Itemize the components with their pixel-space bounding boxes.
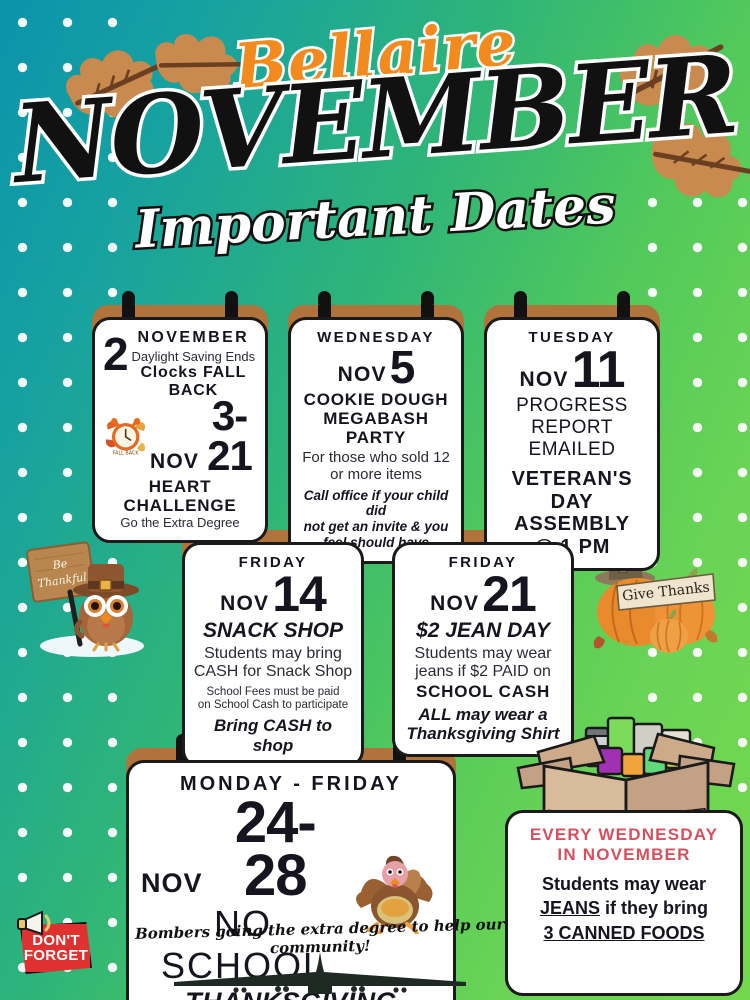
event-card-cookie-dough-megabash[interactable]: WEDNESDAY NOV 5 COOKIE DOUGH MEGABASH PA… xyxy=(288,305,464,564)
event-line: ASSEMBLY xyxy=(495,513,649,535)
event-line: MEGABASH PARTY xyxy=(299,409,453,447)
event-line: Students may wear xyxy=(403,645,563,664)
month-title: NOVEMBER xyxy=(10,32,741,208)
day-of-week: NOVEMBER xyxy=(130,329,257,347)
day-number: 5 xyxy=(390,346,415,390)
bomber-plane-icon xyxy=(170,952,470,998)
jeans-emphasis: JEANS xyxy=(540,898,600,918)
calendar-body: WEDNESDAY NOV 5 COOKIE DOUGH MEGABASH PA… xyxy=(288,317,464,564)
event-line: CASH for Snack Shop xyxy=(193,663,353,682)
poster-headline: Bellaire NOVEMBER Important Dates xyxy=(0,18,750,248)
dont-forget-line-2: FORGET xyxy=(24,948,88,963)
event-line: SNACK SHOP xyxy=(193,619,353,643)
event-card-veterans-day[interactable]: TUESDAY NOV 11 PROGRESS REPORT EMAILED V… xyxy=(484,305,660,571)
nov-label: NOV xyxy=(141,871,203,897)
food-drive-headline-1: EVERY WEDNESDAY xyxy=(516,825,732,845)
event-line: Daylight Saving Ends xyxy=(130,349,257,364)
event-card-snack-shop[interactable]: FRIDAY NOV 14 SNACK SHOP Students may br… xyxy=(182,530,364,768)
event-line: VETERAN'S DAY xyxy=(495,468,649,513)
event-line: SCHOOL CASH xyxy=(403,682,563,701)
alarm-clock-fall-back-icon: FALL BACK xyxy=(103,410,150,462)
food-drive-body-3: 3 CANNED FOODS xyxy=(516,922,732,945)
calendar-body: TUESDAY NOV 11 PROGRESS REPORT EMAILED V… xyxy=(484,317,660,571)
day-number: 21 xyxy=(482,571,536,619)
day-number: 2 xyxy=(103,327,128,381)
calendar-body: 2 NOVEMBER Daylight Saving Ends Clocks F… xyxy=(92,317,268,543)
day-number: 3-21 xyxy=(202,396,257,476)
event-note: Go the Extra Degree xyxy=(103,515,257,530)
event-line: For those who sold 12 xyxy=(299,449,453,466)
nov-label: NOV xyxy=(519,370,568,390)
nov-label: NOV xyxy=(430,594,479,614)
november-flyer: Bellaire NOVEMBER Important Dates 2 NOVE… xyxy=(0,0,750,1000)
event-line: Bring CASH to shop xyxy=(193,716,353,755)
nov-label: NOV xyxy=(150,452,199,472)
nov-label: NOV xyxy=(220,594,269,614)
event-line: COOKIE DOUGH xyxy=(299,390,453,409)
pilgrim-owl-be-thankful-icon: Be Thankful xyxy=(14,534,164,662)
event-line: School Fees must be paid xyxy=(193,686,353,699)
food-drive-panel[interactable]: EVERY WEDNESDAY IN NOVEMBER Students may… xyxy=(505,810,743,996)
event-line: or more items xyxy=(299,466,453,483)
event-line: not get an invite & you xyxy=(299,519,453,535)
event-line: jeans if $2 PAID on xyxy=(403,663,563,682)
event-line: on School Cash to participate xyxy=(193,699,353,712)
event-card-daylight-saving[interactable]: 2 NOVEMBER Daylight Saving Ends Clocks F… xyxy=(92,305,268,543)
event-line: Call office if your child did xyxy=(299,488,453,520)
food-drive-headline-2: IN NOVEMBER xyxy=(516,845,732,865)
day-number: 11 xyxy=(572,346,625,395)
food-drive-body-1: Students may wear xyxy=(516,873,732,896)
megaphone-icon xyxy=(16,906,60,940)
food-drive-body-2: JEANS if they bring xyxy=(516,897,732,920)
event-line: Students may bring xyxy=(193,645,353,664)
event-line: $2 JEAN DAY xyxy=(403,619,563,643)
event-line: EMAILED xyxy=(495,439,649,461)
svg-text:Be: Be xyxy=(51,557,69,572)
event-line: PROGRESS REPORT xyxy=(495,395,649,439)
day-of-week: WEDNESDAY xyxy=(299,329,453,346)
event-line: Clocks FALL xyxy=(130,364,257,382)
icon-caption: FALL BACK xyxy=(113,450,140,456)
day-number: 14 xyxy=(272,571,326,619)
nov-label: NOV xyxy=(338,365,387,385)
calendar-body: FRIDAY NOV 14 SNACK SHOP Students may br… xyxy=(182,542,364,768)
day-number: 24-28 xyxy=(206,796,345,903)
food-drive-body-2-post: if they bring xyxy=(600,898,708,918)
event-title: HEART CHALLENGE xyxy=(103,477,257,515)
